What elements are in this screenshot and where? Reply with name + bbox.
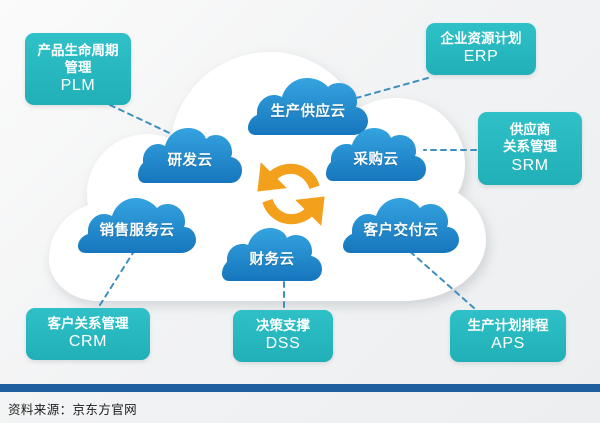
cloud-sales[interactable]: 销售服务云: [78, 198, 196, 254]
cloud-purchase[interactable]: 采购云: [326, 128, 426, 182]
tag-code: APS: [491, 334, 525, 354]
tag-code: DSS: [266, 334, 301, 354]
diagram-canvas: 生产供应云 研发云 采购云: [0, 0, 600, 423]
tag-code: SRM: [511, 156, 548, 176]
tag-crm[interactable]: 客户关系管理 CRM: [26, 308, 150, 360]
tag-plm[interactable]: 产品生命周期 管理 PLM: [25, 33, 131, 105]
tag-line: 供应商: [510, 121, 551, 138]
cloud-finance[interactable]: 财务云: [222, 228, 322, 282]
tag-erp[interactable]: 企业资源计划 ERP: [426, 23, 536, 75]
tag-line: 产品生命周期: [38, 42, 119, 59]
tag-code: CRM: [69, 332, 107, 352]
tag-aps[interactable]: 生产计划排程 APS: [450, 310, 566, 362]
cloud-rd[interactable]: 研发云: [138, 128, 242, 184]
cycle-arrows-icon: [249, 152, 333, 236]
tag-line: 关系管理: [503, 138, 557, 155]
tag-dss[interactable]: 决策支撑 DSS: [233, 310, 333, 362]
footer-divider: [0, 384, 600, 392]
tag-line: 生产计划排程: [468, 317, 549, 334]
tag-line: 客户关系管理: [48, 315, 129, 332]
tag-line: 决策支撑: [256, 317, 310, 334]
tag-code: ERP: [464, 47, 499, 67]
tag-line: 企业资源计划: [441, 30, 522, 47]
tag-line: 管理: [65, 59, 92, 76]
tag-srm[interactable]: 供应商 关系管理 SRM: [478, 112, 582, 185]
tag-code: PLM: [61, 76, 96, 96]
cloud-delivery[interactable]: 客户交付云: [343, 198, 459, 254]
source-note: 资料来源：京东方官网: [8, 399, 137, 418]
